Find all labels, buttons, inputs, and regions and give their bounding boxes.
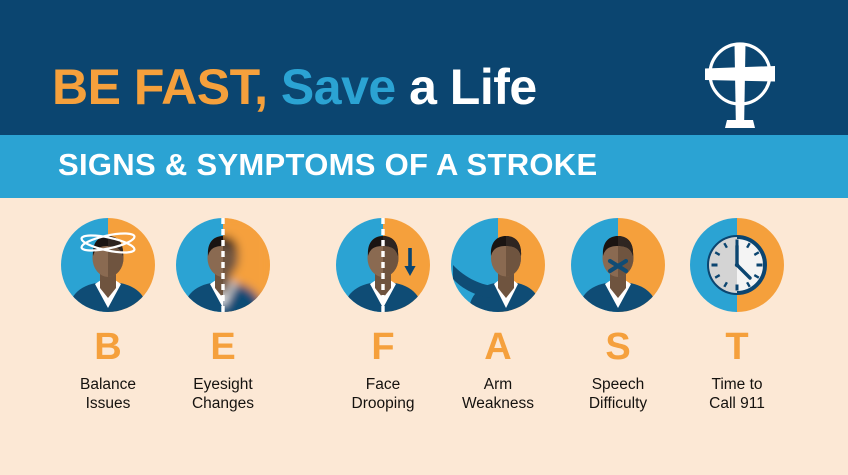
symptom-caption: Time to Call 911 xyxy=(662,375,812,414)
celtic-cross-logo xyxy=(694,36,786,130)
symptom-letter: T xyxy=(662,328,812,366)
speech-difficulty-person-icon xyxy=(571,218,665,312)
face-drooping-person-icon xyxy=(336,218,430,312)
symptom-item-eyesight: E Eyesight Changes xyxy=(148,198,298,414)
title-a-life: a Life xyxy=(409,59,537,115)
clock-icon xyxy=(690,218,784,312)
title-comma: , xyxy=(254,59,267,115)
subtitle-text: SIGNS & SYMPTOMS OF A STROKE xyxy=(58,148,597,182)
infographic-root: BE FAST, Save a Life SIGNS & SYMPTOMS OF xyxy=(0,0,848,475)
symptom-caption: Eyesight Changes xyxy=(148,375,298,414)
symptom-item-time: T Time to Call 911 xyxy=(662,198,812,414)
title-be-fast: BE FAST xyxy=(52,59,254,115)
title-save: Save xyxy=(281,59,396,115)
symptom-letter: E xyxy=(148,328,298,366)
page-title: BE FAST, Save a Life xyxy=(52,62,537,112)
blurred-vision-person-icon xyxy=(176,218,270,312)
symptom-list: B Balance Issues xyxy=(0,198,848,475)
arm-weakness-person-icon xyxy=(451,218,545,312)
dizzy-person-icon xyxy=(61,218,155,312)
